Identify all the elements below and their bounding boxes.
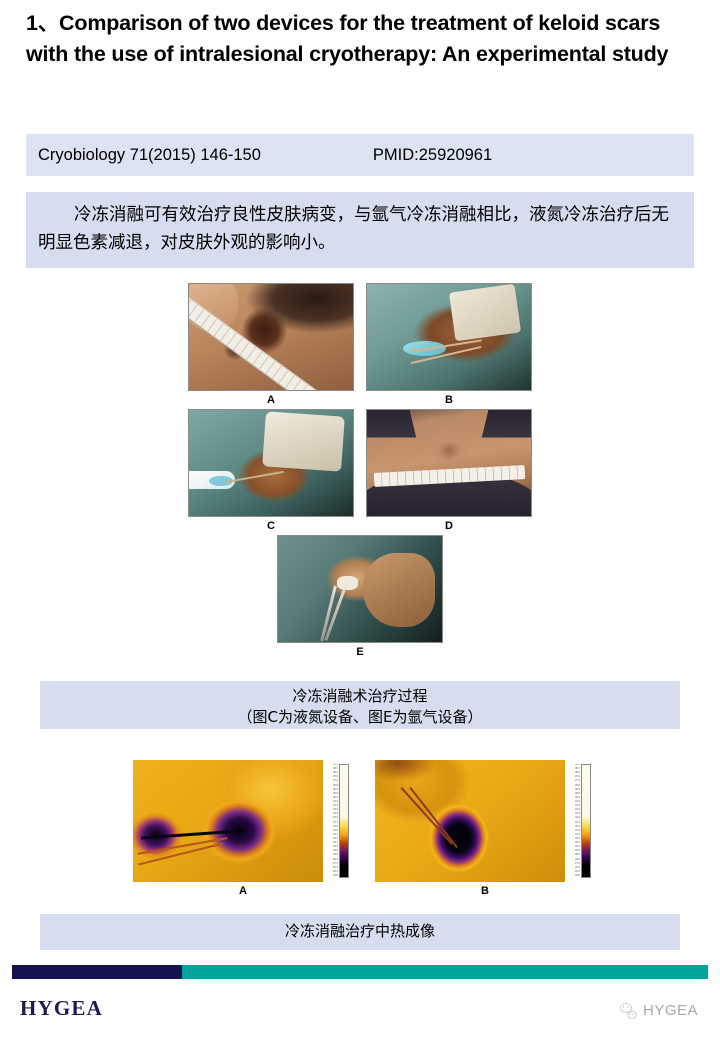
wechat-icon bbox=[620, 1002, 637, 1019]
footer-bar-navy bbox=[12, 965, 182, 979]
thermal-colorbar-a: 39.038.738.237.937.336.836.335.835.434.9… bbox=[323, 760, 353, 882]
thermal-tick-label: 32.4 bbox=[565, 822, 580, 825]
thermal-image-b: 39.038.738.237.937.336.836.335.835.434.9… bbox=[375, 760, 595, 882]
thermal-tick-label: 28.0 bbox=[565, 859, 580, 862]
thermal-panel-a: 39.038.738.237.937.336.836.335.835.434.9… bbox=[133, 760, 353, 900]
thermal-tick-label: 25.8 bbox=[565, 875, 580, 878]
thermal-colorbar-gradient-a bbox=[339, 764, 349, 878]
thermal-tick-label: 32.9 bbox=[323, 817, 338, 820]
thermal-tick-label: 37.3 bbox=[323, 780, 338, 783]
summary-text: 冷冻消融可有效治疗良性皮肤病变，与氩气冷冻消融相比，液氮冷冻治疗后无明显色素减退… bbox=[38, 201, 682, 257]
photo-panel-a: A bbox=[188, 283, 354, 409]
procedure-caption-box: 冷冻消融术治疗过程 （图C为液氮设备、图E为氩气设备） bbox=[40, 681, 680, 729]
clinical-photo-grid: A B C bbox=[188, 283, 532, 661]
thermal-tick-label: 25.8 bbox=[323, 875, 338, 878]
thermal-tick-label: 28.5 bbox=[565, 854, 580, 857]
footer-brand-logo: HYGEA bbox=[20, 996, 103, 1021]
photo-panel-b: B bbox=[366, 283, 532, 409]
footer-wechat-label: HYGEA bbox=[643, 1002, 698, 1019]
photo-image-a bbox=[188, 283, 354, 391]
photo-row: C D bbox=[188, 409, 532, 535]
photo-label-d: D bbox=[366, 517, 532, 535]
photo-panel-c: C bbox=[188, 409, 354, 535]
photo-row: A B bbox=[188, 283, 532, 409]
photo-image-b bbox=[366, 283, 532, 391]
photo-row: E bbox=[188, 535, 532, 661]
thermal-colorbar-ticks-b: 39.038.738.237.937.336.836.335.835.434.9… bbox=[565, 764, 581, 878]
photo-image-c bbox=[188, 409, 354, 517]
photo-label-c: C bbox=[188, 517, 354, 535]
thermal-panel-b: 39.038.738.237.937.336.836.335.835.434.9… bbox=[375, 760, 595, 900]
thermal-colorbar-gradient-b bbox=[581, 764, 591, 878]
thermal-image-group: 39.038.738.237.937.336.836.335.835.434.9… bbox=[133, 760, 595, 900]
thermal-tick-label: 28.0 bbox=[323, 859, 338, 862]
citation-pmid: PMID:25920961 bbox=[373, 146, 492, 165]
photo-image-d bbox=[366, 409, 532, 517]
thermal-label-a: A bbox=[133, 882, 353, 900]
thermal-image-a: 39.038.738.237.937.336.836.335.835.434.9… bbox=[133, 760, 353, 882]
footer-wechat-group: HYGEA bbox=[620, 1002, 698, 1019]
procedure-caption-line-1: 冷冻消融术治疗过程 bbox=[40, 686, 680, 707]
procedure-caption-line-2: （图C为液氮设备、图E为氩气设备） bbox=[40, 707, 680, 728]
citation-journal: Cryobiology 71(2015) 146-150 bbox=[38, 146, 261, 165]
thermal-tick-label: 28.5 bbox=[323, 854, 338, 857]
summary-box: 冷冻消融可有效治疗良性皮肤病变，与氩气冷冻消融相比，液氮冷冻治疗后无明显色素减退… bbox=[26, 192, 694, 268]
footer-bar-teal bbox=[182, 965, 708, 979]
thermal-tick-label: 32.9 bbox=[565, 817, 580, 820]
photo-label-b: B bbox=[366, 391, 532, 409]
photo-image-e bbox=[277, 535, 443, 643]
thermal-tick-label: 37.3 bbox=[565, 780, 580, 783]
photo-label-e: E bbox=[277, 643, 443, 661]
thermal-label-b: B bbox=[375, 882, 595, 900]
photo-panel-e: E bbox=[277, 535, 443, 661]
citation-bar: Cryobiology 71(2015) 146-150 PMID:259209… bbox=[26, 134, 694, 176]
photo-panel-d: D bbox=[366, 409, 532, 535]
thermal-colorbar-ticks-a: 39.038.738.237.937.336.836.335.835.434.9… bbox=[323, 764, 339, 878]
thermal-colorbar-b: 39.038.738.237.937.336.836.335.835.434.9… bbox=[565, 760, 595, 882]
page-title: 1、Comparison of two devices for the trea… bbox=[26, 8, 698, 70]
thermal-tick-label: 32.4 bbox=[323, 822, 338, 825]
photo-label-a: A bbox=[188, 391, 354, 409]
thermal-caption-line: 冷冻消融治疗中热成像 bbox=[40, 921, 680, 942]
thermal-caption-box: 冷冻消融治疗中热成像 bbox=[40, 914, 680, 950]
